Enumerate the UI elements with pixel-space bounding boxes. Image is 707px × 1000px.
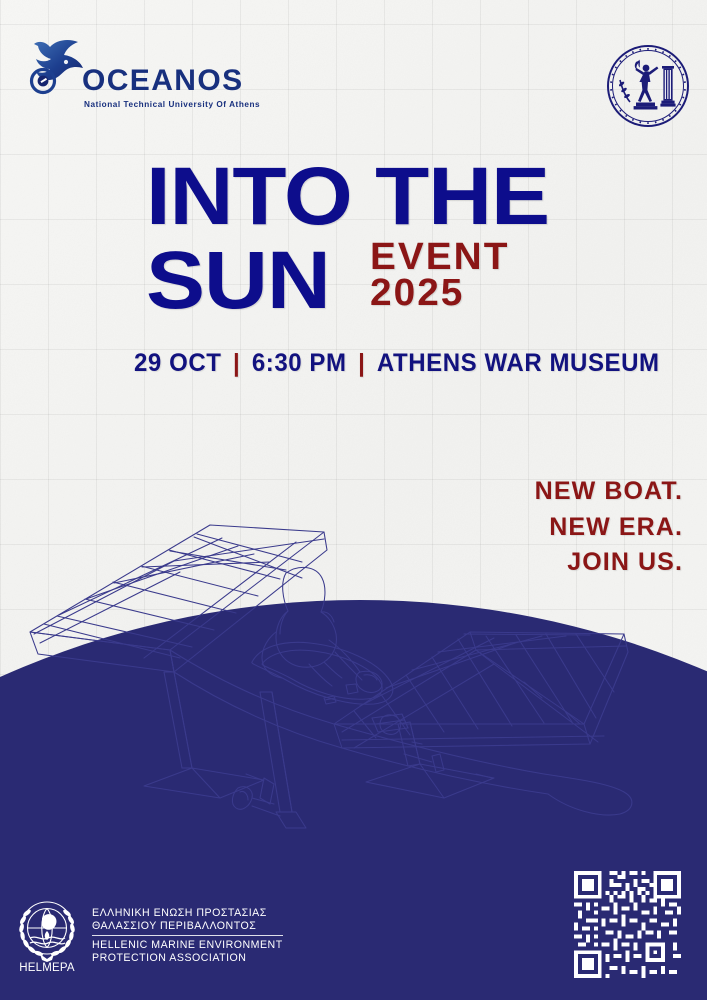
event-date: 29 OCT [134, 349, 221, 378]
qr-code[interactable] [570, 867, 685, 982]
helmepa-english-line-1: HELLENIC MARINE ENVIRONMENT [92, 939, 283, 952]
solar-hydrofoil-boat-illustration [24, 512, 664, 852]
orca-whale-icon [26, 36, 88, 98]
helmepa-greek-line-2: ΘΑΛΑΣΣΙΟΥ ΠΕΡΙΒΑΛΛΟΝΤΟΣ [92, 920, 283, 933]
oceanos-subtitle: National Technical University Of Athens [84, 100, 260, 109]
helmepa-text-block: ΕΛΛΗΝΙΚΗ ΕΝΩΣΗ ΠΡΟΣΤΑΣΙΑΣ ΘΑΛΑΣΣΙΟΥ ΠΕΡΙ… [92, 907, 283, 966]
tagline-line-1: NEW BOAT. [535, 474, 683, 510]
event-details-line: 29 OCT | 6:30 PM | ATHENS WAR MUSEUM [134, 349, 660, 378]
headline-line-2: SUN [146, 246, 330, 317]
helmepa-english-line-2: PROTECTION ASSOCIATION [92, 952, 283, 965]
headline-block: INTO THE SUN EVENT 2025 [146, 162, 616, 317]
helmepa-logo: HELMEPA ΕΛΛΗΝΙΚΗ ΕΝΩΣΗ ΠΡΟΣΤΑΣΙΑΣ ΘΑΛΑΣΣ… [14, 898, 283, 974]
helmepa-greek-line-1: ΕΛΛΗΝΙΚΗ ΕΝΩΣΗ ΠΡΟΣΤΑΣΙΑΣ [92, 907, 283, 920]
headline-line-1: INTO THE [146, 162, 654, 233]
details-separator-1: | [233, 349, 240, 378]
event-year: 2025 [370, 275, 509, 311]
event-word: EVENT [370, 239, 509, 275]
details-separator-2: | [358, 349, 365, 378]
event-venue: ATHENS WAR MUSEUM [377, 349, 660, 378]
oceanos-wordmark: OCEANOS [82, 66, 244, 96]
event-time: 6:30 PM [252, 349, 347, 378]
helmepa-acronym: HELMEPA [19, 962, 75, 974]
event-year-block: EVENT 2025 [370, 239, 507, 317]
poster-canvas: OCEANOS National Technical University Of… [0, 0, 707, 1000]
helmepa-greek-lines: ΕΛΛΗΝΙΚΗ ΕΝΩΣΗ ΠΡΟΣΤΑΣΙΑΣ ΘΑΛΑΣΣΙΟΥ ΠΕΡΙ… [92, 907, 283, 936]
oceanos-logo: OCEANOS National Technical University Of… [26, 36, 236, 128]
helmepa-emblem-icon: HELMEPA [14, 898, 80, 974]
ntua-seal-icon [606, 44, 690, 128]
helmepa-english-lines: HELLENIC MARINE ENVIRONMENT PROTECTION A… [92, 936, 283, 965]
